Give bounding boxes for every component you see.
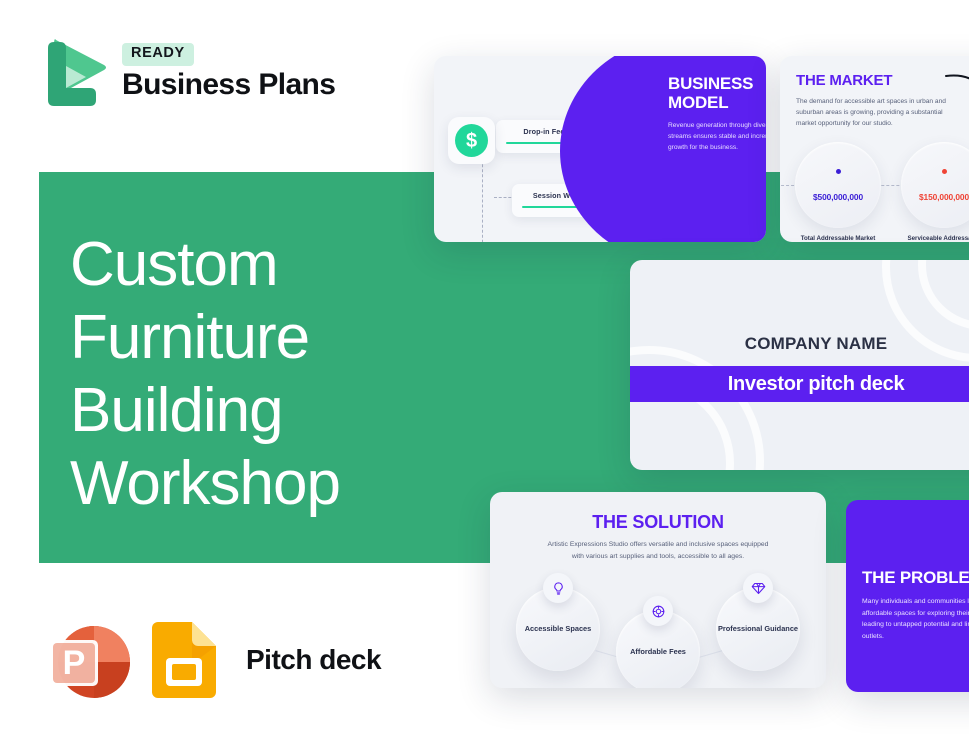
hero-line-3: Building: [70, 374, 500, 447]
solution-body: Artistic Expressions Studio offers versa…: [544, 539, 772, 563]
problem-title: THE PROBLEM: [862, 568, 969, 588]
market-metric: $150,000,000 Serviceable Addressable Mar…: [898, 142, 969, 242]
brand-lockup: READY Business Plans: [38, 34, 335, 112]
decorative-rings: [630, 260, 969, 470]
curved-arrow-icon: [944, 70, 969, 112]
business-model-title-line1: BUSINESS: [668, 74, 766, 93]
footer-row: P Pitch deck: [44, 618, 381, 702]
slide-the-problem[interactable]: THE PROBLEM Many individuals and communi…: [846, 500, 969, 692]
target-icon: [643, 596, 673, 626]
google-slides-icon: [152, 622, 216, 698]
slide-company-name[interactable]: COMPANY NAME Investor pitch deck: [630, 260, 969, 470]
slide-business-model[interactable]: Drop-in Fees Session Workshops Commissio…: [434, 56, 766, 242]
metric-value: $150,000,000: [919, 192, 969, 202]
market-title: THE MARKET: [796, 72, 892, 89]
hero-line-2: Furniture: [70, 301, 500, 374]
ready-badge: READY: [122, 43, 194, 66]
slide-the-solution[interactable]: THE SOLUTION Artistic Expressions Studio…: [490, 492, 826, 688]
problem-body: Many individuals and communities lack ac…: [862, 596, 969, 643]
company-name-subtitle: Investor pitch deck: [728, 373, 905, 396]
dollar-icon: $: [455, 124, 488, 157]
play-arrow-logo: [38, 34, 108, 112]
market-metrics: $500,000,000 Total Addressable Market (T…: [792, 142, 969, 242]
metric-dot-sam: [942, 169, 947, 174]
company-name-band: Investor pitch deck: [630, 366, 969, 402]
business-model-title-line2: MODEL: [668, 93, 766, 112]
business-model-body: Revenue generation through diverse strea…: [668, 121, 766, 154]
market-body: The demand for accessible art spaces in …: [796, 96, 964, 130]
company-name-title: COMPANY NAME: [630, 334, 969, 354]
powerpoint-icon: P: [44, 618, 132, 702]
solution-node: Professional Guidance: [716, 587, 800, 671]
diamond-icon: [743, 573, 773, 603]
hero-line-1: Custom: [70, 228, 500, 301]
dollar-icon-card: $: [448, 117, 495, 164]
footer-label: Pitch deck: [246, 644, 381, 676]
hero-title: Custom Furniture Building Workshop: [70, 228, 500, 521]
svg-text:P: P: [63, 644, 86, 682]
business-model-purple-panel: BUSINESS MODEL Revenue generation throug…: [560, 56, 766, 242]
solution-title: THE SOLUTION: [490, 512, 826, 533]
hero-line-4: Workshop: [70, 447, 500, 520]
poster-canvas: READY Business Plans Custom Furniture Bu…: [0, 0, 969, 744]
solution-node: Affordable Fees: [616, 610, 700, 688]
slide-the-market[interactable]: THE MARKET The demand for accessible art…: [780, 56, 969, 242]
metric-caption: Total Addressable Market (TAM): [792, 235, 884, 242]
solution-node: Accessible Spaces: [516, 587, 600, 671]
market-metric: $500,000,000 Total Addressable Market (T…: [792, 142, 884, 242]
metric-value: $500,000,000: [813, 192, 863, 202]
metric-dot-tam: [836, 169, 841, 174]
metric-caption: Serviceable Addressable Market (SAM): [898, 235, 969, 242]
lightbulb-icon: [543, 573, 573, 603]
brand-title: Business Plans: [122, 68, 335, 103]
